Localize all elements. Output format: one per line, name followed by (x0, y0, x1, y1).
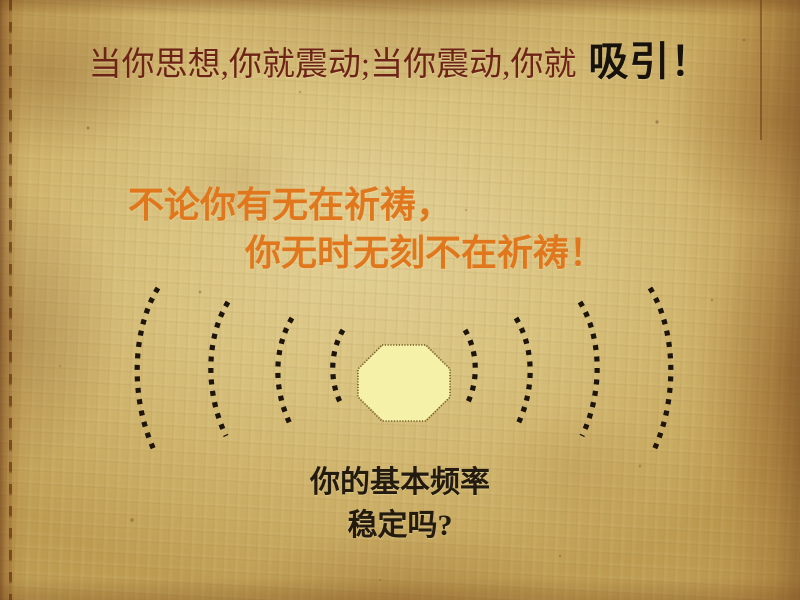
wave-arc-right-3 (516, 318, 530, 424)
subheadline-line-2: 你无时无刻不在祈祷！ (0, 230, 800, 278)
wave-arcs-right (465, 288, 671, 450)
wave-arc-left-3 (278, 318, 292, 424)
headline-accent-text: 吸引！ (588, 39, 711, 84)
caption: 你的基本频率 稳定吗? (0, 462, 800, 547)
headline-main-text: 当你思想,你就震动;当你震动,你就 (89, 47, 577, 83)
paper-bottom-edge (0, 578, 800, 600)
wave-arc-right-2 (580, 302, 597, 436)
subheadline: 不论你有无在祈祷， 你无时无刻不在祈祷！ (0, 182, 800, 277)
caption-line-2: 稳定吗? (0, 505, 800, 548)
subheadline-line-1: 不论你有无在祈祷， (0, 182, 800, 230)
wave-arc-left-4 (333, 330, 343, 406)
caption-line-1: 你的基本频率 (0, 462, 800, 505)
wave-arc-left-2 (211, 302, 228, 436)
wave-arc-right-4 (465, 330, 475, 406)
wave-arc-right-1 (650, 288, 671, 450)
paper-top-edge (0, 0, 800, 16)
poster-canvas: 当你思想,你就震动;当你震动,你就吸引！ 不论你有无在祈祷， 你无时无刻不在祈祷… (0, 0, 800, 600)
center-octagon-source (358, 345, 450, 421)
headline: 当你思想,你就震动;当你震动,你就吸引！ (0, 40, 800, 84)
wave-arcs-left (137, 288, 343, 450)
wave-arc-left-1 (137, 288, 158, 450)
